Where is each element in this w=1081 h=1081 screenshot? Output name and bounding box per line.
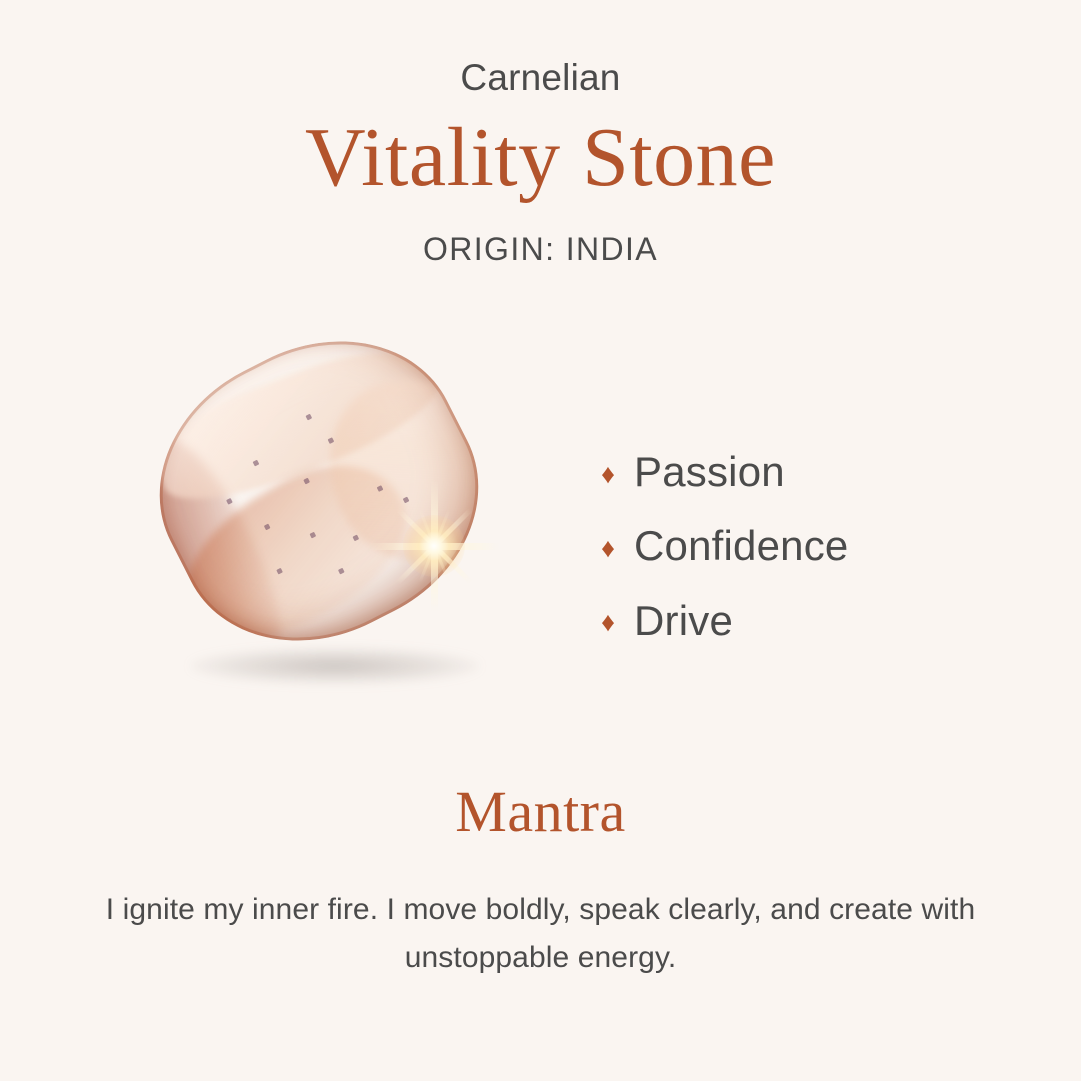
page-title: Vitality Stone — [0, 111, 1081, 205]
stone-illustration — [128, 330, 528, 720]
attribute-label-confidence: Confidence — [634, 522, 848, 570]
diamond-bullet-icon: ♦ — [600, 535, 616, 562]
stone-name-eyebrow: Carnelian — [0, 58, 1081, 99]
list-item: ♦ Drive — [600, 597, 1020, 645]
card-header: Carnelian Vitality Stone ORIGIN: INDIA — [0, 58, 1081, 268]
list-item: ♦ Passion — [600, 448, 1020, 496]
mantra-heading: Mantra — [0, 780, 1081, 844]
attributes-list: ♦ Passion ♦ Confidence ♦ Drive — [600, 448, 1020, 671]
carnelian-stone-icon — [117, 295, 521, 687]
list-item: ♦ Confidence — [600, 522, 1020, 570]
mantra-section: Mantra I ignite my inner fire. I move bo… — [0, 780, 1081, 983]
diamond-bullet-icon: ♦ — [600, 461, 616, 488]
mantra-text: I ignite my inner fire. I move boldly, s… — [106, 886, 976, 983]
origin-label: ORIGIN: INDIA — [0, 231, 1081, 268]
attribute-label-drive: Drive — [634, 597, 733, 645]
attribute-label-passion: Passion — [634, 448, 785, 496]
stone-rim — [117, 295, 521, 687]
stone-and-attributes-section: ♦ Passion ♦ Confidence ♦ Drive — [0, 330, 1081, 730]
diamond-bullet-icon: ♦ — [600, 609, 616, 636]
stone-info-card: Carnelian Vitality Stone ORIGIN: INDIA — [0, 0, 1081, 1081]
stone-body — [117, 295, 521, 687]
